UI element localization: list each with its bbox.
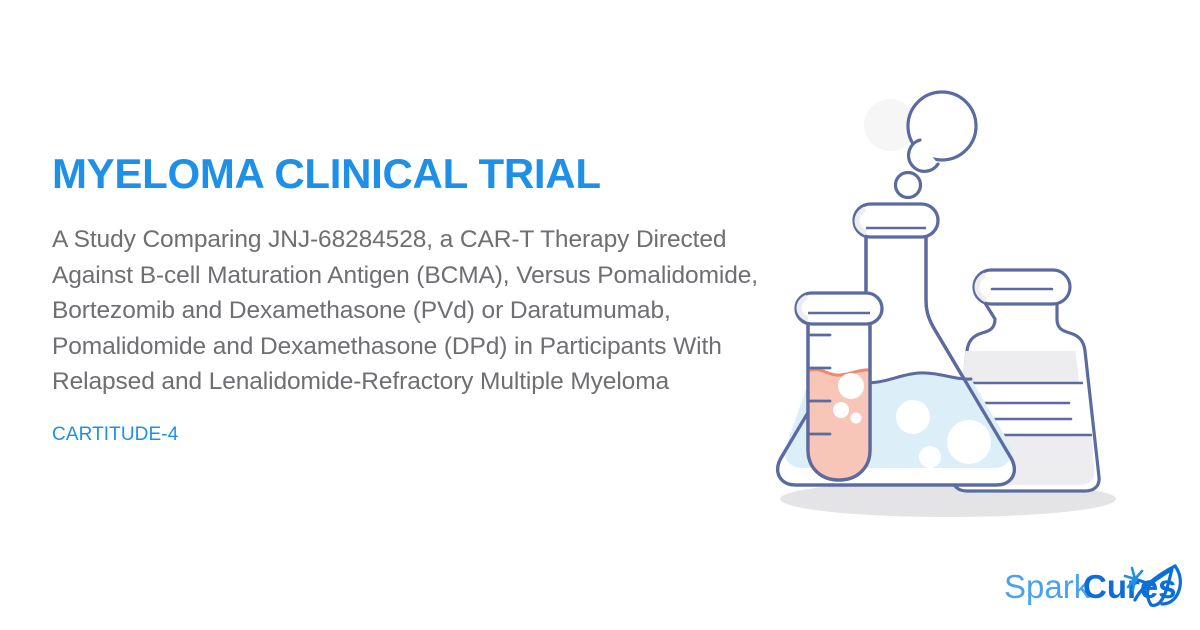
liquid-bubble [919,446,941,468]
page-title: MYELOMA CLINICAL TRIAL [52,148,812,200]
bubble-tiny-icon [896,173,921,198]
laboratory-glassware-illustration [770,85,1130,535]
liquid-bubble [838,373,864,399]
liquid-bubble [947,420,991,464]
liquid-bubble [851,413,862,424]
trial-nickname: CARTITUDE-4 [52,422,812,448]
logo-word-spark: Spark [1004,568,1091,605]
sparkcures-logo[interactable]: Spark Cures [1004,558,1184,616]
liquid-bubble [896,400,930,434]
trial-text-block: MYELOMA CLINICAL TRIAL A Study Comparing… [52,148,812,448]
study-title: A Study Comparing JNJ-68284528, a CAR-T … [52,222,792,400]
test-tube-pink [796,293,882,480]
liquid-bubble [833,402,849,418]
trial-share-card: MYELOMA CLINICAL TRIAL A Study Comparing… [0,0,1200,630]
ground-shadow-inner [800,490,1040,516]
